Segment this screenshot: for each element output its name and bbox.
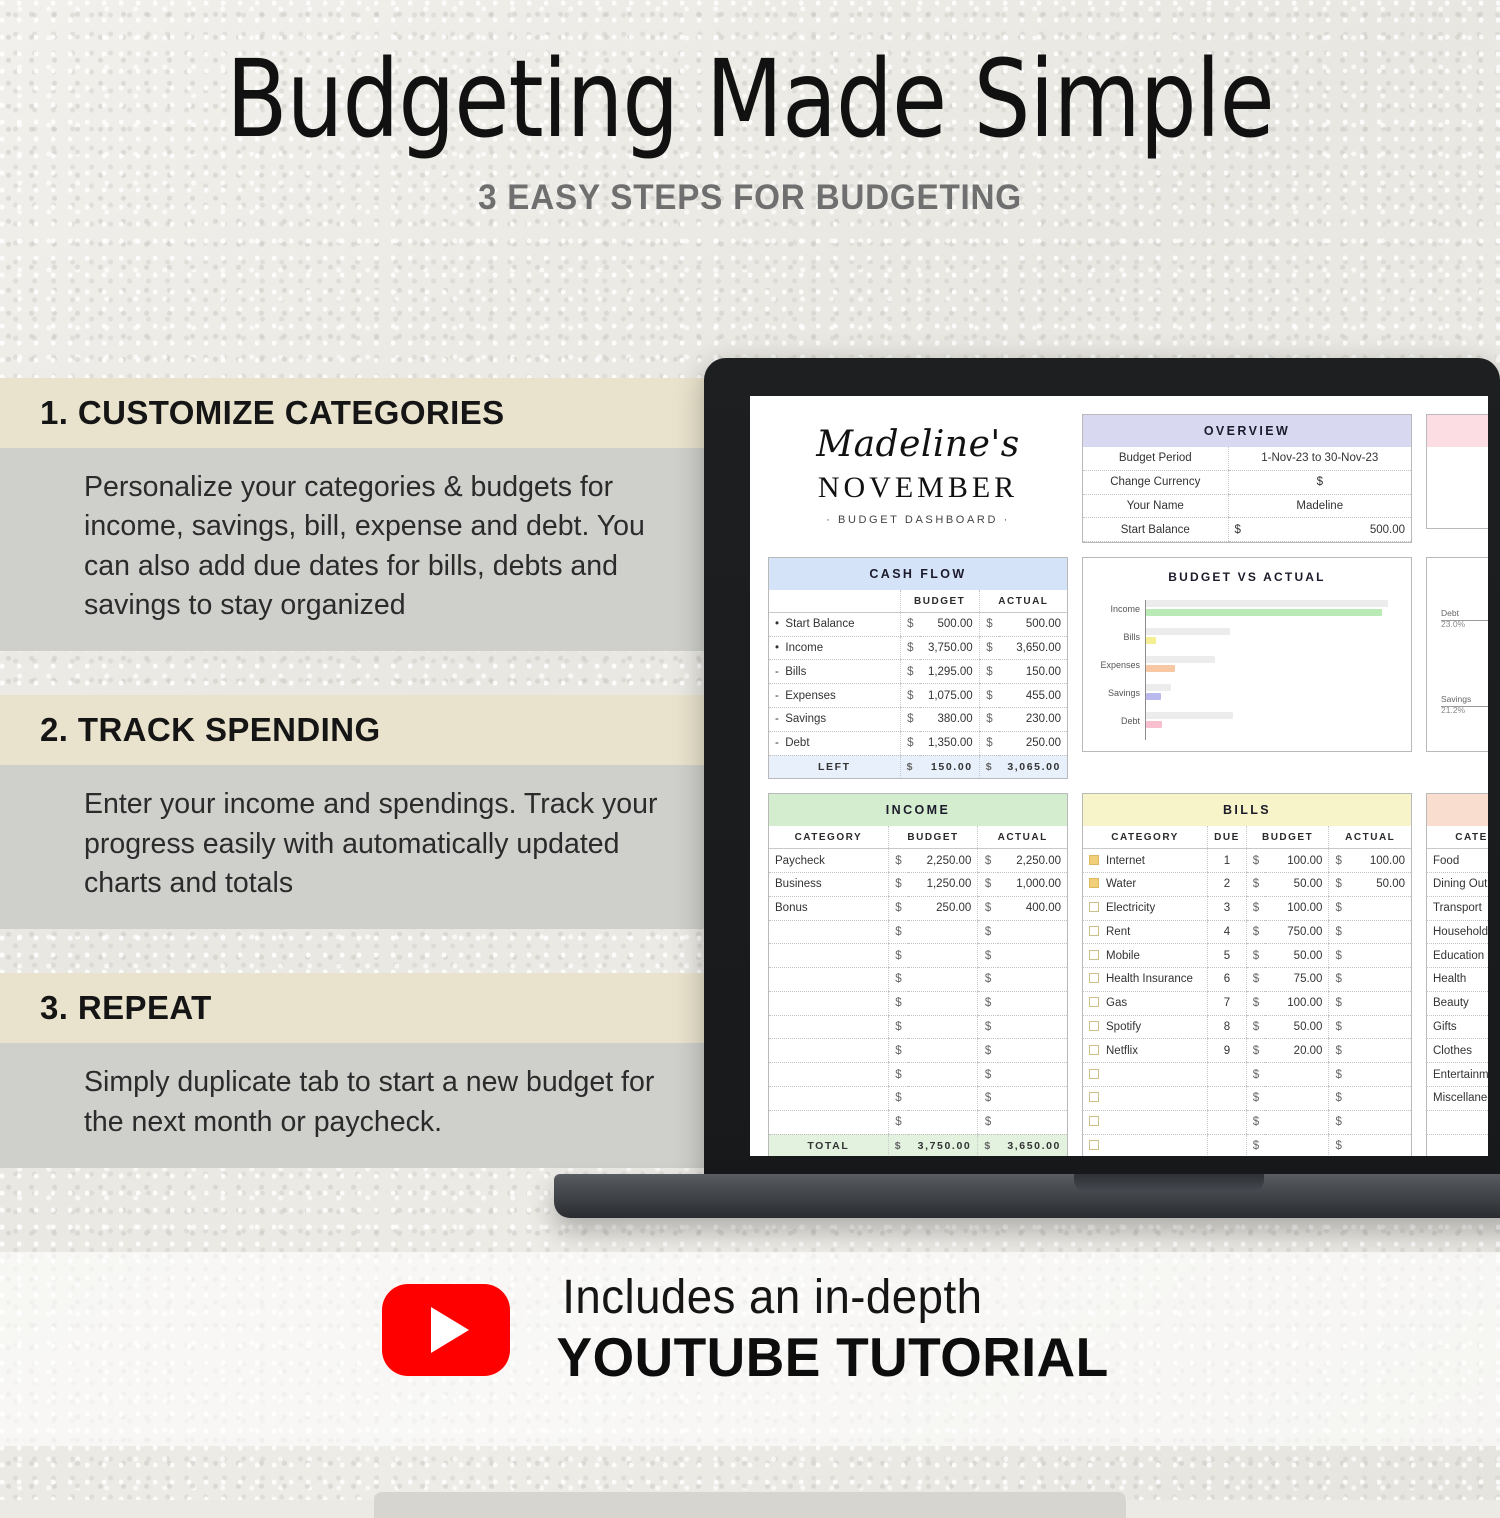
row-actual <box>998 991 1067 1015</box>
cf-row-3: - Expenses <box>769 684 900 708</box>
table-row[interactable]: Your Name Madeline <box>1083 494 1411 518</box>
overview-card: OVERVIEW Budget Period 1-Nov-23 to 30-No… <box>1082 414 1412 543</box>
row-category <box>1083 1063 1208 1087</box>
row-category <box>1083 1110 1208 1134</box>
table-header-row: CATEGORY BUDGET ACTUAL <box>769 826 1067 848</box>
income-total-row: TOTAL $3,750.00 $3,650.00 <box>769 1134 1067 1156</box>
table-row[interactable]: $$ <box>769 991 1067 1015</box>
row-budget: 750.00 <box>1265 920 1329 944</box>
table-row[interactable]: $$ <box>1083 1134 1411 1156</box>
row-category: Entertainment <box>1427 1063 1488 1087</box>
row-checkbox[interactable] <box>1089 973 1099 983</box>
chart-category-label: Expenses <box>1100 660 1140 670</box>
row-actual <box>1348 896 1411 920</box>
donut-title: ACTUAL BREAKDOWN <box>1437 570 1488 584</box>
row-due: 4 <box>1208 920 1247 944</box>
row-actual <box>1348 1015 1411 1039</box>
row-category: Business <box>769 872 888 896</box>
row-budget: 50.00 <box>1265 1015 1329 1039</box>
row-actual: 400.00 <box>998 896 1067 920</box>
chart-category-label: Savings <box>1108 688 1140 698</box>
row-budget <box>908 968 978 992</box>
row-budget <box>908 1039 978 1063</box>
table-row[interactable]: Netflix9$20.00$ <box>1083 1039 1411 1063</box>
actual-breakdown-chart: ACTUAL BREAKDOWN Debt 23.0% Savings 21.2… <box>1426 557 1488 752</box>
row-actual <box>1348 944 1411 968</box>
bar-actual <box>1146 665 1175 672</box>
left-actual: 3,065.00 <box>999 755 1067 778</box>
row-actual: 1,000.00 <box>998 872 1067 896</box>
income-total-budget: 3,750.00 <box>908 1134 978 1156</box>
cf-5-actual: 250.00 <box>999 731 1067 755</box>
row-actual: 50.00 <box>1348 872 1411 896</box>
budget-spreadsheet: Madeline's NOVEMBER · BUDGET DASHBOARD ·… <box>750 396 1488 1156</box>
row-budget <box>908 1015 978 1039</box>
table-row[interactable]: Water2$50.00$50.00 <box>1083 872 1411 896</box>
overview-row-1-label: Change Currency <box>1083 470 1228 494</box>
row-budget <box>908 920 978 944</box>
overview-row-1-value: $ <box>1228 470 1411 494</box>
table-row[interactable]: $$ <box>1083 1086 1411 1110</box>
row-actual <box>1348 1134 1411 1156</box>
table-row[interactable]: $$ <box>769 1063 1067 1087</box>
row-budget: 2,250.00 <box>908 849 978 873</box>
overview-table: Budget Period 1-Nov-23 to 30-Nov-23 Chan… <box>1083 447 1411 542</box>
row-category <box>769 1063 888 1087</box>
bar-budget <box>1146 684 1171 691</box>
chart-plot-area: IncomeBillsExpensesSavingsDebt <box>1145 600 1401 740</box>
table-row[interactable]: Bonus$250.00$400.00 <box>769 896 1067 920</box>
donut-callout-debt: Debt 23.0% <box>1441 608 1465 629</box>
bar-actual <box>1146 637 1156 644</box>
table-row[interactable]: - Expenses $1,075.00 $455.00 <box>769 684 1067 708</box>
cash-flow-title: CASH FLOW <box>769 558 1067 590</box>
overview-row-3-value: $ 500.00 <box>1228 518 1411 542</box>
row-budget <box>908 944 978 968</box>
footer-line-2: YOUTUBE TUTORIAL <box>557 1325 1109 1389</box>
row-category: Mobile <box>1083 944 1208 968</box>
chart-category-label: Debt <box>1121 716 1140 726</box>
table-row[interactable]: $$ <box>769 1039 1067 1063</box>
row-category <box>1427 1110 1488 1134</box>
step-item-3: 3. REPEAT Simply duplicate tab to start … <box>0 973 720 1168</box>
left-to-spend-amount: $3065 <box>1427 447 1488 528</box>
row-budget: 50.00 <box>1265 944 1329 968</box>
bar-budget <box>1146 600 1388 607</box>
row-category: Beauty <box>1427 991 1488 1015</box>
row-budget: 100.00 <box>1265 849 1329 873</box>
bar-budget <box>1146 656 1215 663</box>
row-budget <box>908 1086 978 1110</box>
cf-2-actual: 150.00 <box>999 660 1067 684</box>
row-due: 9 <box>1208 1039 1247 1063</box>
chart-category-label: Income <box>1110 604 1140 614</box>
row-actual <box>1348 1086 1411 1110</box>
table-row[interactable]: Internet1$100.00$100.00 <box>1083 849 1411 873</box>
row-checkbox[interactable] <box>1089 878 1099 888</box>
table-row[interactable]: Beauty$25.00$ <box>1427 991 1488 1015</box>
row-category <box>1083 1086 1208 1110</box>
row-due: 7 <box>1208 991 1247 1015</box>
overview-row-0-value: 1-Nov-23 to 30-Nov-23 <box>1228 447 1411 470</box>
footer-line-1: Includes an in-depth <box>563 1270 1104 1325</box>
table-row[interactable]: Household$200.00$ <box>1427 920 1488 944</box>
step-item-2: 2. TRACK SPENDING Enter your income and … <box>0 695 720 929</box>
row-category <box>769 944 888 968</box>
bottom-edge-bar <box>374 1492 1126 1518</box>
bar-actual <box>1146 721 1162 728</box>
col-category: CATEGORY <box>769 826 888 848</box>
table-row[interactable]: - Savings $380.00 $230.00 <box>769 708 1067 732</box>
row-budget <box>1265 1063 1329 1087</box>
chart-bar-group: Savings <box>1146 684 1401 712</box>
table-row[interactable]: Electricity3$100.00$ <box>1083 896 1411 920</box>
cf-4-budget: 380.00 <box>920 708 979 732</box>
table-row[interactable]: Health Insurance6$75.00$ <box>1083 968 1411 992</box>
row-actual <box>1348 1063 1411 1087</box>
bar-actual <box>1146 693 1161 700</box>
row-category: Household <box>1427 920 1488 944</box>
left-budget: 150.00 <box>920 755 979 778</box>
row-checkbox[interactable] <box>1089 902 1099 912</box>
row-budget: 50.00 <box>1265 872 1329 896</box>
row-checkbox[interactable] <box>1089 1069 1099 1079</box>
row-category: Spotify <box>1083 1015 1208 1039</box>
col-category: CATEGORY <box>1427 826 1488 848</box>
row-due: 8 <box>1208 1015 1247 1039</box>
currency-symbol: $ <box>1235 524 1241 536</box>
table-row[interactable]: Rent4$750.00$ <box>1083 920 1411 944</box>
col-due: DUE <box>1208 826 1247 848</box>
youtube-tutorial-footer: Includes an in-depth YOUTUBE TUTORIAL <box>0 1270 1500 1389</box>
row-budget <box>1265 1086 1329 1110</box>
row-actual <box>998 1015 1067 1039</box>
overview-row-0-label: Budget Period <box>1083 447 1228 470</box>
income-title: INCOME <box>769 794 1067 826</box>
table-row[interactable]: $$ <box>769 1110 1067 1134</box>
left-to-spend-card: LEFT TO SPEND $3065 <box>1426 414 1488 529</box>
laptop-base-notch <box>1074 1174 1264 1191</box>
row-category: Clothes <box>1427 1039 1488 1063</box>
row-category: Electricity <box>1083 896 1208 920</box>
row-category: Internet <box>1083 849 1208 873</box>
table-row[interactable]: $$ <box>769 920 1067 944</box>
cf-2-budget: 1,295.00 <box>920 660 979 684</box>
row-category: Paycheck <box>769 849 888 873</box>
row-budget: 100.00 <box>1265 991 1329 1015</box>
row-actual <box>998 920 1067 944</box>
row-due <box>1208 1110 1247 1134</box>
row-actual: 2,250.00 <box>998 849 1067 873</box>
laptop-screen: Madeline's NOVEMBER · BUDGET DASHBOARD ·… <box>750 396 1488 1156</box>
col-actual: ACTUAL <box>979 590 1067 612</box>
row-budget <box>908 1063 978 1087</box>
step-3-body: Simply duplicate tab to start a new budg… <box>0 1043 716 1168</box>
col-actual: ACTUAL <box>1329 826 1411 848</box>
row-category <box>769 968 888 992</box>
row-due <box>1208 1063 1247 1087</box>
row-category <box>1083 1134 1208 1156</box>
table-row[interactable]: Dining Out$200.00$ <box>1427 872 1488 896</box>
row-budget <box>1265 1134 1329 1156</box>
row-actual <box>998 944 1067 968</box>
table-header-row: CATEGORY DUE BUDGET ACTUAL <box>1083 826 1411 848</box>
table-row[interactable]: $$ <box>769 1015 1067 1039</box>
table-row[interactable]: Change Currency $ <box>1083 470 1411 494</box>
table-row[interactable]: Entertainment$100.00$ <box>1427 1063 1488 1087</box>
expenses-title: EXPENSES <box>1427 794 1488 826</box>
owner-name-script: Madeline's <box>768 424 1068 465</box>
laptop-mockup: Madeline's NOVEMBER · BUDGET DASHBOARD ·… <box>704 358 1500 1178</box>
donut-callout-savings: Savings 21.2% <box>1441 694 1471 715</box>
table-row[interactable]: Miscellaneous$$ <box>1427 1086 1488 1110</box>
income-total-actual: 3,650.00 <box>998 1134 1067 1156</box>
bills-card: BILLS CATEGORY DUE BUDGET ACTUAL Interne… <box>1082 793 1412 1156</box>
row-actual <box>1348 1039 1411 1063</box>
budget-vs-actual-chart: BUDGET VS ACTUAL IncomeBillsExpensesSavi… <box>1082 557 1412 752</box>
overview-row-3-label: Start Balance <box>1083 518 1228 542</box>
cf-0-actual: 500.00 <box>999 612 1067 636</box>
overview-row-2-label: Your Name <box>1083 494 1228 518</box>
row-category: Rent <box>1083 920 1208 944</box>
table-row[interactable]: • Start Balance $500.00 $500.00 <box>769 612 1067 636</box>
table-row[interactable]: Food$200.00$ <box>1427 849 1488 873</box>
row-budget: 250.00 <box>908 896 978 920</box>
row-due: 3 <box>1208 896 1247 920</box>
row-actual <box>998 1039 1067 1063</box>
table-row[interactable]: $$ <box>1083 1110 1411 1134</box>
row-checkbox[interactable] <box>1089 926 1099 936</box>
row-category: Food <box>1427 849 1488 873</box>
row-category: Gifts <box>1427 1015 1488 1039</box>
bar-actual <box>1146 609 1382 616</box>
cf-1-actual: 3,650.00 <box>999 636 1067 660</box>
bar-budget <box>1146 712 1233 719</box>
table-row[interactable]: Transport$100.00$ <box>1427 896 1488 920</box>
cash-flow-table: BUDGET ACTUAL • Start Balance $500.00 $5… <box>769 590 1067 778</box>
row-category: Dining Out <box>1427 872 1488 896</box>
table-row[interactable]: $$ <box>769 944 1067 968</box>
row-actual <box>1348 920 1411 944</box>
left-to-spend-title: LEFT TO SPEND <box>1427 415 1488 447</box>
table-row[interactable]: $$ <box>769 1086 1067 1110</box>
cash-flow-total-row: LEFT $150.00 $3,065.00 <box>769 755 1067 778</box>
table-row[interactable]: Budget Period 1-Nov-23 to 30-Nov-23 <box>1083 447 1411 470</box>
col-budget: BUDGET <box>888 826 978 848</box>
row-budget: 75.00 <box>1265 968 1329 992</box>
chart-category-label: Bills <box>1123 632 1140 642</box>
col-actual: ACTUAL <box>978 826 1067 848</box>
bills-table: CATEGORY DUE BUDGET ACTUAL Internet1$100… <box>1083 826 1411 1156</box>
income-card: INCOME CATEGORY BUDGET ACTUAL Paycheck$2… <box>768 793 1068 1156</box>
income-total-label: TOTAL <box>769 1134 888 1156</box>
table-row[interactable]: Clothes$50.00$ <box>1427 1039 1488 1063</box>
left-label: LEFT <box>769 755 900 778</box>
table-row[interactable]: Start Balance $ 500.00 <box>1083 518 1411 542</box>
table-row[interactable]: Gifts$50.00$ <box>1427 1015 1488 1039</box>
start-balance-value: 500.00 <box>1370 524 1405 536</box>
row-category: Health Insurance <box>1083 968 1208 992</box>
cf-5-budget: 1,350.00 <box>920 731 979 755</box>
row-actual <box>998 1110 1067 1134</box>
chart-bar-group: Bills <box>1146 628 1401 656</box>
row-due: 6 <box>1208 968 1247 992</box>
table-row[interactable]: $$ <box>1083 1063 1411 1087</box>
row-category <box>769 1015 888 1039</box>
col-budget: BUDGET <box>900 590 979 612</box>
col-category: CATEGORY <box>1083 826 1208 848</box>
row-checkbox[interactable] <box>1089 1092 1099 1102</box>
row-checkbox[interactable] <box>1089 997 1099 1007</box>
step-2-body: Enter your income and spendings. Track y… <box>0 765 716 929</box>
laptop-base <box>554 1174 1500 1218</box>
row-category: Miscellaneous <box>1427 1086 1488 1110</box>
laptop-bezel: Madeline's NOVEMBER · BUDGET DASHBOARD ·… <box>704 358 1500 1178</box>
youtube-icon[interactable] <box>382 1284 510 1376</box>
expenses-card: EXPENSES CATEGORY BUDGET ACTUAL Food$200… <box>1426 793 1488 1156</box>
row-budget <box>908 991 978 1015</box>
step-1-body: Personalize your categories & budgets fo… <box>0 448 720 651</box>
step-item-1: 1. CUSTOMIZE CATEGORIES Personalize your… <box>0 378 720 651</box>
table-header-row: CATEGORY BUDGET ACTUAL <box>1427 826 1488 848</box>
row-category: Water <box>1083 872 1208 896</box>
row-budget: 100.00 <box>1265 896 1329 920</box>
row-actual <box>998 1086 1067 1110</box>
row-budget <box>908 1110 978 1134</box>
row-category: Education <box>1427 944 1488 968</box>
cf-row-0: • Start Balance <box>769 612 900 636</box>
table-row[interactable]: Spotify8$50.00$ <box>1083 1015 1411 1039</box>
dashboard-branding: Madeline's NOVEMBER · BUDGET DASHBOARD · <box>768 414 1068 530</box>
row-checkbox[interactable] <box>1089 950 1099 960</box>
step-1-heading: 1. CUSTOMIZE CATEGORIES <box>0 378 720 448</box>
row-actual <box>998 1063 1067 1087</box>
step-3-heading: 3. REPEAT <box>0 973 720 1043</box>
row-checkbox[interactable] <box>1089 1045 1099 1055</box>
row-category: Gas <box>1083 991 1208 1015</box>
row-due <box>1208 1086 1247 1110</box>
cf-4-actual: 230.00 <box>999 708 1067 732</box>
col-budget: BUDGET <box>1246 826 1329 848</box>
row-due: 2 <box>1208 872 1247 896</box>
table-row[interactable]: Health$100.00$ <box>1427 968 1488 992</box>
bills-title: BILLS <box>1083 794 1411 826</box>
cf-3-actual: 455.00 <box>999 684 1067 708</box>
cf-3-budget: 1,075.00 <box>920 684 979 708</box>
page-title: Budgeting Made Simple <box>53 44 1448 156</box>
page-subtitle: 3 EASY STEPS FOR BUDGETING <box>38 178 1463 218</box>
row-category <box>769 1110 888 1134</box>
row-due: 1 <box>1208 849 1247 873</box>
overview-title: OVERVIEW <box>1083 415 1411 447</box>
row-budget: 20.00 <box>1265 1039 1329 1063</box>
table-row[interactable]: Mobile5$50.00$ <box>1083 944 1411 968</box>
row-marker: • <box>775 618 779 630</box>
row-checkbox[interactable] <box>1089 1116 1099 1126</box>
table-row[interactable]: Business$1,250.00$1,000.00 <box>769 872 1067 896</box>
table-row[interactable]: - Debt $1,350.00 $250.00 <box>769 731 1067 755</box>
table-row[interactable]: $$ <box>1427 1110 1488 1134</box>
chart-bar-group: Income <box>1146 600 1401 628</box>
cf-row-5: - Debt <box>769 731 900 755</box>
play-triangle-icon <box>431 1307 469 1353</box>
row-checkbox[interactable] <box>1089 1021 1099 1031</box>
month-title: NOVEMBER <box>768 471 1068 505</box>
row-actual <box>1348 1110 1411 1134</box>
chart-bar-group: Debt <box>1146 712 1401 740</box>
table-header-row: BUDGET ACTUAL <box>769 590 1067 612</box>
table-row[interactable]: Gas7$100.00$ <box>1083 991 1411 1015</box>
row-actual <box>1348 968 1411 992</box>
header: Budgeting Made Simple 3 EASY STEPS FOR B… <box>0 44 1500 218</box>
row-category <box>769 991 888 1015</box>
row-actual <box>1348 991 1411 1015</box>
row-category <box>769 1039 888 1063</box>
cf-0-budget: 500.00 <box>920 612 979 636</box>
row-category <box>1427 1134 1488 1156</box>
table-row[interactable]: - Bills $1,295.00 $150.00 <box>769 660 1067 684</box>
cf-row-4: - Savings <box>769 708 900 732</box>
steps-list: 1. CUSTOMIZE CATEGORIES Personalize your… <box>0 378 720 1212</box>
table-row[interactable]: $$ <box>769 968 1067 992</box>
table-row[interactable]: Paycheck$2,250.00$2,250.00 <box>769 849 1067 873</box>
row-checkbox[interactable] <box>1089 1140 1099 1150</box>
income-table: CATEGORY BUDGET ACTUAL Paycheck$2,250.00… <box>769 826 1067 1156</box>
cf-row-2: - Bills <box>769 660 900 684</box>
row-category: Bonus <box>769 896 888 920</box>
row-category: Health <box>1427 968 1488 992</box>
row-category <box>769 920 888 944</box>
step-2-heading: 2. TRACK SPENDING <box>0 695 720 765</box>
bar-budget <box>1146 628 1230 635</box>
row-due <box>1208 1134 1247 1156</box>
table-row[interactable]: • Income $3,750.00 $3,650.00 <box>769 636 1067 660</box>
row-category: Netflix <box>1083 1039 1208 1063</box>
row-category: Transport <box>1427 896 1488 920</box>
row-actual <box>998 968 1067 992</box>
overview-row-2-value: Madeline <box>1228 494 1411 518</box>
row-checkbox[interactable] <box>1089 855 1099 865</box>
expenses-table: CATEGORY BUDGET ACTUAL Food$200.00$Dinin… <box>1427 826 1488 1156</box>
table-row[interactable]: $$ <box>1427 1134 1488 1156</box>
row-actual: 100.00 <box>1348 849 1411 873</box>
row-budget: 1,250.00 <box>908 872 978 896</box>
dashboard-subtitle: · BUDGET DASHBOARD · <box>768 514 1068 526</box>
row-budget <box>1265 1110 1329 1134</box>
row-category <box>769 1086 888 1110</box>
chart-title: BUDGET VS ACTUAL <box>1093 570 1401 584</box>
table-row[interactable]: Education$50.00$ <box>1427 944 1488 968</box>
row-due: 5 <box>1208 944 1247 968</box>
cf-row-1: • Income <box>769 636 900 660</box>
cf-1-budget: 3,750.00 <box>920 636 979 660</box>
chart-bar-group: Expenses <box>1146 656 1401 684</box>
cash-flow-card: CASH FLOW BUDGET ACTUAL • Start Balance … <box>768 557 1068 779</box>
